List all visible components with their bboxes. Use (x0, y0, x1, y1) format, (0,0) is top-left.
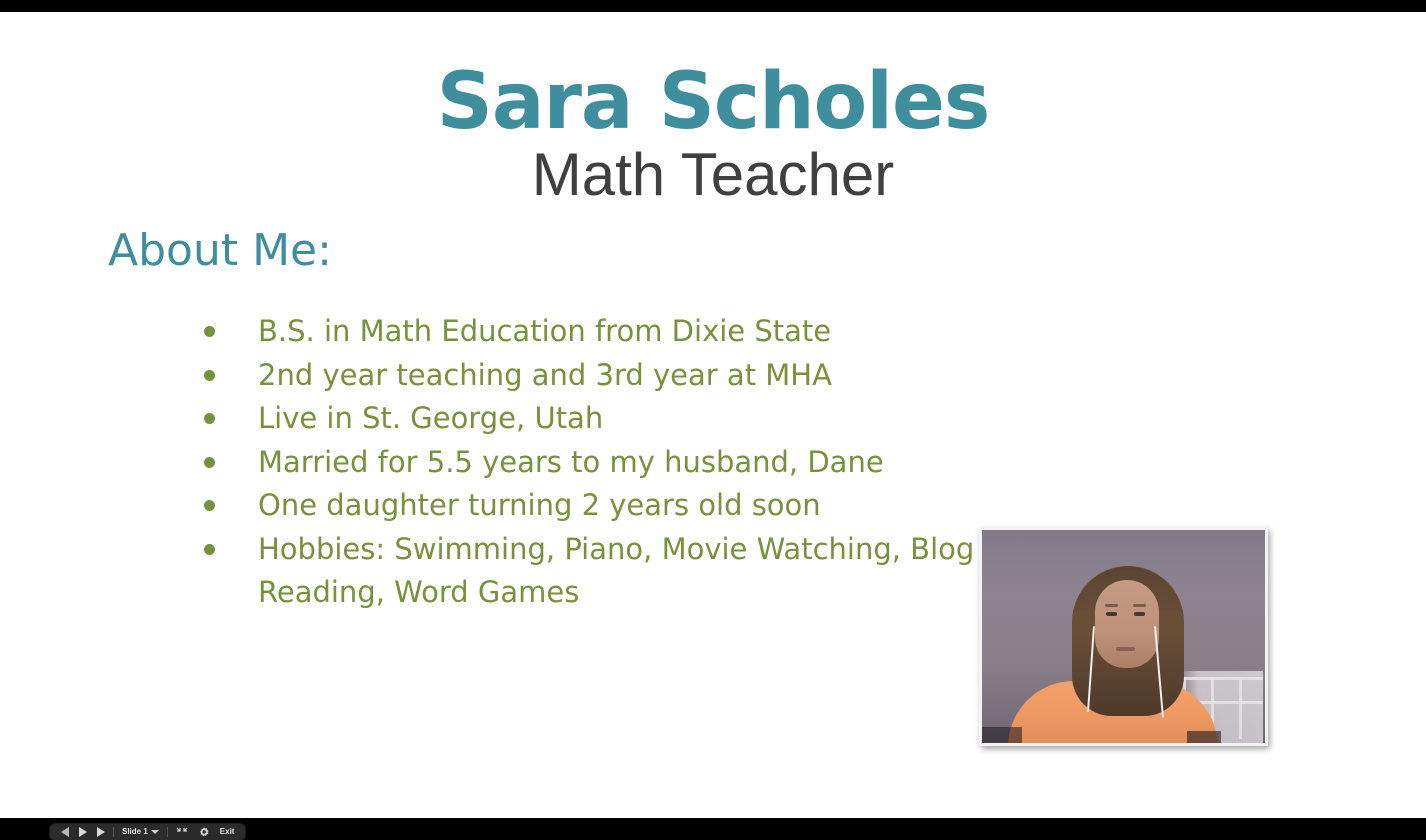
webcam-person-mouth (1116, 647, 1135, 651)
bullet-dot-icon (204, 326, 215, 337)
arrow-left-icon (61, 827, 69, 837)
list-item-label: Live in St. George, Utah (258, 401, 603, 435)
list-item: B.S. in Math Education from Dixie State (196, 310, 986, 354)
bullet-dot-icon (204, 544, 215, 555)
bullet-dot-icon (204, 457, 215, 468)
slide-indicator-label: Slide 1 (122, 827, 148, 837)
webcam-person-face (1095, 580, 1159, 668)
shrink-icon (176, 827, 188, 837)
bullet-dot-icon (204, 370, 215, 381)
shrink-button[interactable] (171, 825, 193, 839)
toolbar-divider (113, 827, 114, 837)
slide-title: Sara Scholes (0, 60, 1426, 144)
slide-canvas: Sara Scholes Math Teacher About Me: B.S.… (0, 12, 1426, 818)
slide-selector-dropdown[interactable]: Slide 1 (117, 825, 164, 839)
webcam-foreground-object (982, 727, 1022, 743)
previous-slide-button[interactable] (56, 825, 74, 839)
list-item-label: Hobbies: Swimming, Piano, Movie Watching… (258, 532, 974, 610)
slide-subtitle: Math Teacher (0, 141, 1426, 209)
list-item-label: Married for 5.5 years to my husband, Dan… (258, 445, 884, 479)
webcam-person-eye (1106, 612, 1117, 616)
exit-button[interactable]: Exit (215, 825, 240, 839)
play-triangle-icon (79, 827, 87, 837)
arrow-right-icon (97, 827, 105, 837)
webcam-foreground-object (1187, 731, 1221, 743)
webcam-person-eyebrow (1105, 604, 1118, 607)
list-item-label: One daughter turning 2 years old soon (258, 488, 821, 522)
webcam-frame (982, 530, 1265, 743)
bullet-dot-icon (204, 413, 215, 424)
about-me-bullet-list: B.S. in Math Education from Dixie State … (196, 310, 986, 615)
letterbox-top-bar (0, 0, 1426, 12)
next-slide-button[interactable] (92, 825, 110, 839)
section-heading-about-me: About Me: (108, 225, 332, 277)
list-item: Married for 5.5 years to my husband, Dan… (196, 441, 986, 485)
settings-button[interactable] (193, 825, 215, 839)
presentation-screen: Sara Scholes Math Teacher About Me: B.S.… (0, 0, 1426, 840)
list-item: One daughter turning 2 years old soon (196, 484, 986, 528)
webcam-person-eyebrow (1133, 604, 1146, 607)
exit-label: Exit (220, 827, 235, 837)
list-item-label: B.S. in Math Education from Dixie State (258, 314, 831, 348)
play-button[interactable] (74, 825, 92, 839)
toolbar-divider (167, 827, 168, 837)
list-item: Live in St. George, Utah (196, 397, 986, 441)
webcam-video-feed[interactable] (979, 527, 1268, 746)
gear-icon (198, 826, 210, 838)
list-item: 2nd year teaching and 3rd year at MHA (196, 354, 986, 398)
chevron-down-icon (151, 830, 159, 834)
presentation-toolbar: Slide 1 Exit (50, 824, 245, 840)
bullet-dot-icon (204, 500, 215, 511)
list-item-label: 2nd year teaching and 3rd year at MHA (258, 358, 832, 392)
list-item: Hobbies: Swimming, Piano, Movie Watching… (196, 528, 986, 615)
webcam-person-eye (1134, 612, 1145, 616)
